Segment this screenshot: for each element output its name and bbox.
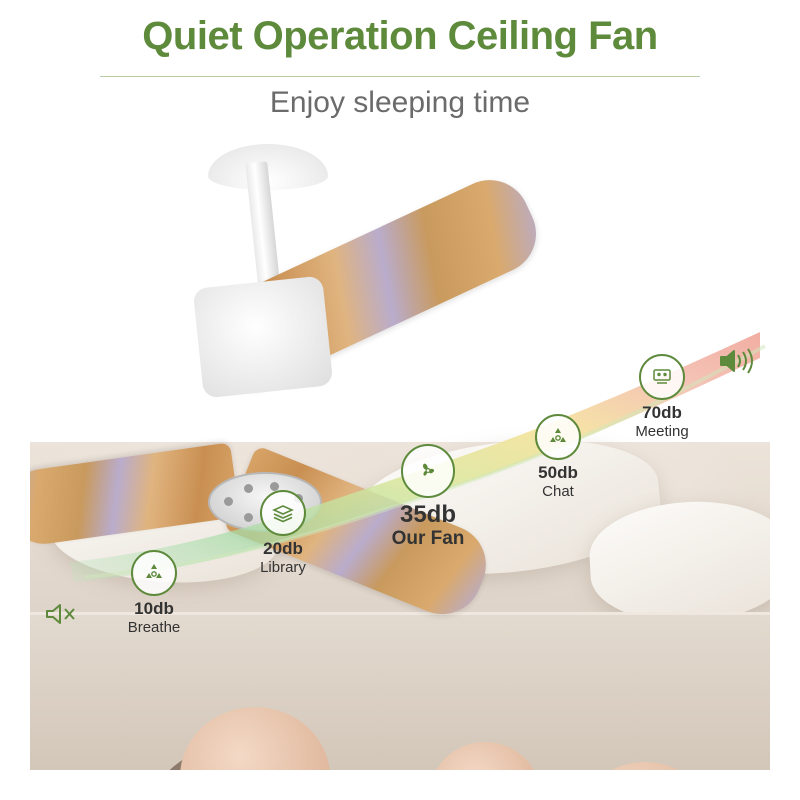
page-title: Quiet Operation Ceiling Fan (0, 14, 800, 59)
product-photo: 10db Breathe 20db Library (30, 142, 770, 770)
header-divider (100, 76, 700, 77)
speaker-mute-icon (44, 600, 78, 633)
noise-label: Our Fan (368, 528, 488, 550)
noise-value: 35db (368, 502, 488, 528)
fan-icon (401, 444, 455, 498)
product-infographic: Quiet Operation Ceiling Fan Enjoy sleepi… (0, 0, 800, 800)
recycle-icon (131, 550, 177, 596)
noise-value: 50db (510, 464, 606, 483)
noise-label: Meeting (610, 423, 714, 440)
noise-node-breathe: 10db Breathe (106, 550, 202, 636)
noise-label: Breathe (106, 619, 202, 636)
noise-value: 70db (610, 404, 714, 423)
recycle-icon (535, 414, 581, 460)
speaker-loud-icon (718, 346, 754, 381)
noise-node-meeting: 70db Meeting (610, 354, 714, 440)
books-icon (260, 490, 306, 536)
page-subtitle: Enjoy sleeping time (0, 86, 800, 120)
noise-label: Chat (510, 483, 606, 500)
noise-node-our-fan: 35db Our Fan (368, 444, 488, 550)
noise-node-chat: 50db Chat (510, 414, 606, 500)
noise-node-library: 20db Library (235, 490, 331, 576)
noise-value: 10db (106, 600, 202, 619)
noise-value: 20db (235, 540, 331, 559)
meeting-icon (639, 354, 685, 400)
noise-label: Library (235, 559, 331, 576)
